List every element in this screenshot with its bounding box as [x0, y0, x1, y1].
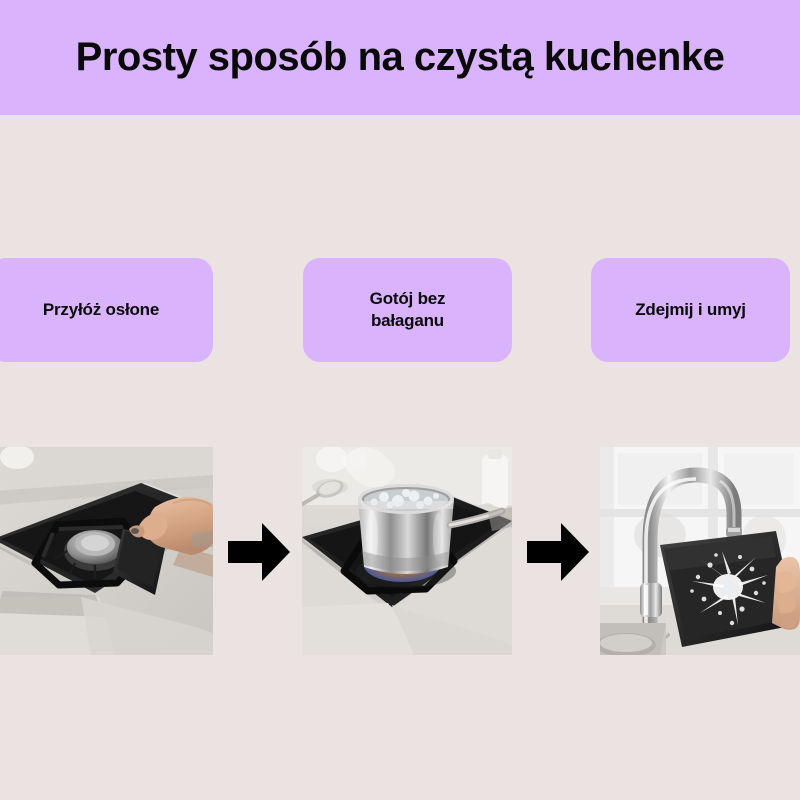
cook-without-mess-photo — [302, 447, 512, 655]
step-card-1-label: Przyłóż osłone — [43, 299, 159, 321]
arrow-right-icon — [525, 521, 591, 583]
step-card-3: Zdejmij i umyj — [591, 258, 790, 362]
place-cover-illustration — [0, 447, 213, 655]
step-card-3-label: Zdejmij i umyj — [635, 299, 746, 321]
step-card-2-label-line2: bałaganu — [371, 311, 444, 330]
place-cover-photo — [0, 447, 213, 655]
remove-and-wash-illustration — [600, 447, 800, 655]
step-card-2: Gotój bez bałaganu — [303, 258, 512, 362]
arrow-right-icon — [226, 521, 292, 583]
page-title: Prosty sposób na czystą kuchenke — [76, 35, 725, 80]
step-card-1: Przyłóż osłone — [0, 258, 213, 362]
cook-without-mess-illustration — [302, 447, 512, 655]
hand-holding-mat — [772, 557, 800, 630]
flow-arrow-2 — [525, 521, 591, 583]
remove-and-wash-photo — [600, 447, 800, 655]
step-card-2-label-line1: Gotój bez — [370, 289, 446, 308]
step-card-2-label: Gotój bez bałaganu — [370, 288, 446, 332]
header-banner: Prosty sposób na czystą kuchenke — [0, 0, 800, 115]
flow-arrow-1 — [226, 521, 292, 583]
